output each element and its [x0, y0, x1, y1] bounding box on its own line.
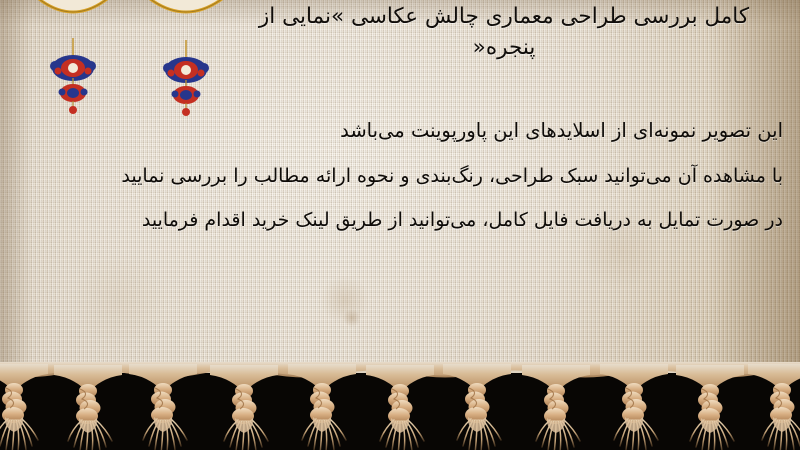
slide-title-line-2: پنجره«	[224, 33, 784, 64]
slide-body-line-3: در صورت تمایل به دریافت فایل کامل، می‌تو…	[15, 198, 783, 243]
slide-title: کامل بررسی طراحی معماری چالش عکاسی »نمای…	[224, 2, 784, 63]
slide-body-line-1: این تصویر نمونه‌ای از اسلایدهای این پاور…	[15, 108, 783, 154]
slide-canvas: کامل بررسی طراحی معماری چالش عکاسی »نمای…	[0, 0, 800, 450]
carpet-fringe-icon	[0, 362, 800, 450]
slide-body-line-2: با مشاهده آن می‌توانید سبک طراحی، رنگ‌بن…	[15, 154, 783, 199]
slide-title-line-1: کامل بررسی طراحی معماری چالش عکاسی »نمای…	[224, 2, 784, 33]
slide-body: این تصویر نمونه‌ای از اسلایدهای این پاور…	[15, 108, 783, 243]
